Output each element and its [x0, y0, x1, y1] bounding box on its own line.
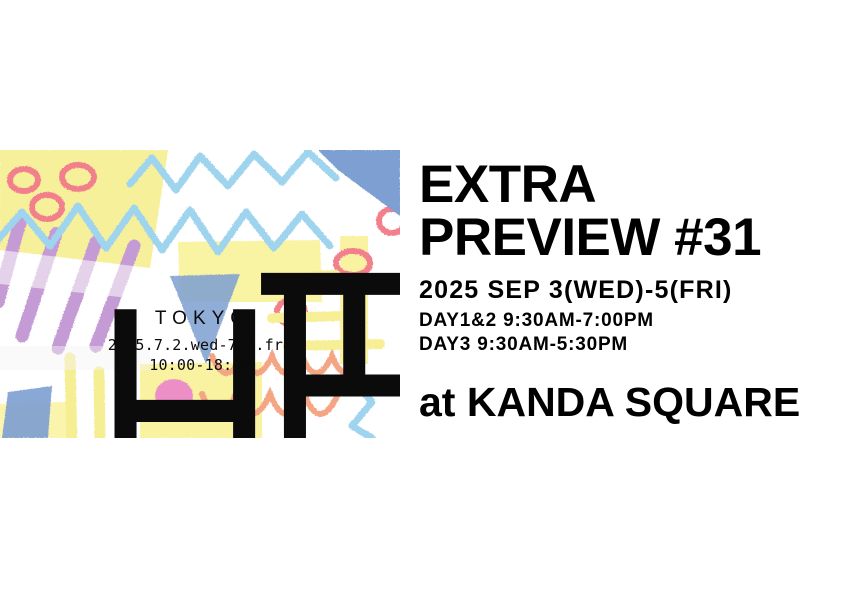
event-dates: 2025 SEP 3(WED)-5(FRI) [419, 276, 842, 304]
socalo-key-visual: SOCALO TOKYO 2025.7.2.wed-7.4.fri 10:00-… [0, 150, 400, 438]
event-venue: at KANDA SQUARE [419, 382, 842, 423]
poster-canvas: SOCALO TOKYO 2025.7.2.wed-7.4.fri 10:00-… [0, 0, 842, 595]
key-visual-graphic [0, 150, 400, 438]
headline-line-1: EXTRA [419, 160, 842, 211]
event-hours-day1-2: DAY1&2 9:30AM-7:00PM [419, 309, 842, 333]
headline-line-2: PREVIEW #31 [419, 213, 842, 264]
event-info-block: EXTRA PREVIEW #31 2025 SEP 3(WED)-5(FRI)… [419, 160, 842, 423]
event-hours-day3: DAY3 9:30AM-5:30PM [419, 333, 842, 357]
